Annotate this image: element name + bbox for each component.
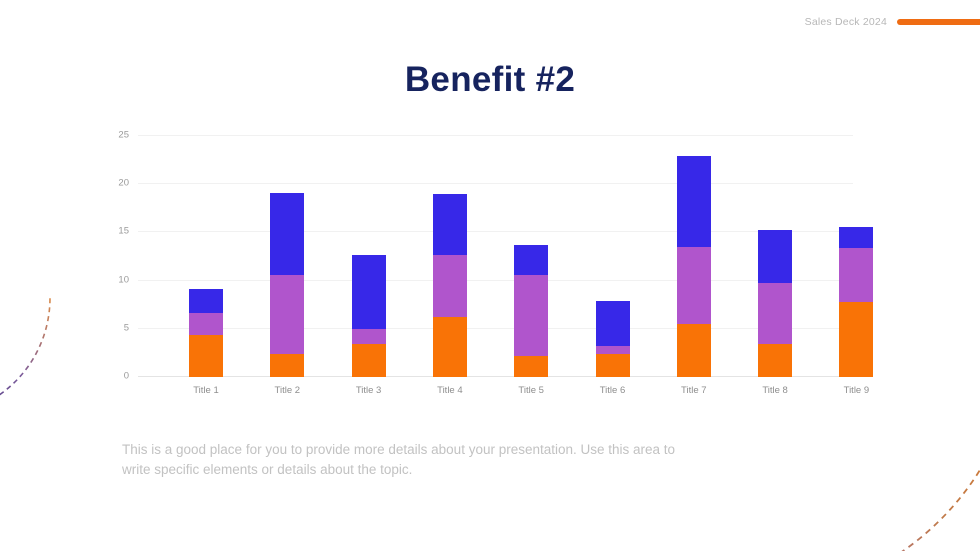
plot-area: 0510152025 Title 1Title 2Title 3Title 4T… xyxy=(138,136,853,377)
bar-segment-series-3[interactable] xyxy=(596,301,630,346)
y-axis-tick-10: 10 xyxy=(118,274,129,285)
bar-segment-series-2[interactable] xyxy=(758,283,792,345)
x-axis-tick-4: Title 4 xyxy=(437,385,463,396)
bar-segment-series-1[interactable] xyxy=(352,344,386,377)
bar-segment-series-2[interactable] xyxy=(352,329,386,344)
bar-segment-series-2[interactable] xyxy=(433,255,467,318)
bar-segment-series-2[interactable] xyxy=(839,248,873,302)
x-axis-tick-8: Title 8 xyxy=(762,385,788,396)
bar-segment-series-1[interactable] xyxy=(677,324,711,377)
bar-segment-series-1[interactable] xyxy=(758,344,792,377)
bar-segment-series-2[interactable] xyxy=(189,313,223,334)
page-title: Benefit #2 xyxy=(0,60,980,100)
x-axis-tick-9: Title 9 xyxy=(844,385,870,396)
bar-group[interactable]: Title 4 xyxy=(433,194,467,377)
bar-group[interactable]: Title 6 xyxy=(596,301,630,377)
bar-segment-series-2[interactable] xyxy=(514,275,548,356)
deck-label: Sales Deck 2024 xyxy=(805,16,887,28)
bar-group[interactable]: Title 5 xyxy=(514,245,548,377)
bar-group[interactable]: Title 9 xyxy=(839,227,873,377)
x-axis-tick-5: Title 5 xyxy=(518,385,544,396)
bar-segment-series-2[interactable] xyxy=(677,247,711,324)
bar-segment-series-3[interactable] xyxy=(677,156,711,247)
bar-group[interactable]: Title 8 xyxy=(758,230,792,377)
bar-segment-series-1[interactable] xyxy=(189,335,223,377)
stacked-bar-chart: 0510152025 Title 1Title 2Title 3Title 4T… xyxy=(108,128,853,393)
bar-segment-series-3[interactable] xyxy=(758,230,792,282)
bar-segment-series-1[interactable] xyxy=(839,302,873,377)
decorative-arc-left xyxy=(0,178,52,418)
bar-group[interactable]: Title 1 xyxy=(189,289,223,377)
bar-series-container: Title 1Title 2Title 3Title 4Title 5Title… xyxy=(138,136,853,377)
bar-segment-series-1[interactable] xyxy=(596,354,630,377)
bar-segment-series-3[interactable] xyxy=(352,255,386,329)
x-axis-tick-7: Title 7 xyxy=(681,385,707,396)
x-axis-tick-6: Title 6 xyxy=(600,385,626,396)
bar-segment-series-1[interactable] xyxy=(270,354,304,377)
x-axis-tick-2: Title 2 xyxy=(275,385,301,396)
bar-group[interactable]: Title 2 xyxy=(270,193,304,377)
bar-segment-series-3[interactable] xyxy=(514,245,548,275)
slide-header: Sales Deck 2024 xyxy=(805,16,980,28)
bar-segment-series-3[interactable] xyxy=(839,227,873,248)
x-axis-tick-3: Title 3 xyxy=(356,385,382,396)
y-axis-tick-0: 0 xyxy=(124,371,129,382)
slide: Sales Deck 2024 Benefit #2 0510152025 Ti… xyxy=(0,0,980,551)
body-paragraph: This is a good place for you to provide … xyxy=(122,440,697,480)
header-rule xyxy=(897,19,980,25)
bar-group[interactable]: Title 7 xyxy=(677,156,711,377)
y-axis-tick-25: 25 xyxy=(118,130,129,141)
x-axis-tick-1: Title 1 xyxy=(193,385,219,396)
bar-segment-series-3[interactable] xyxy=(433,194,467,255)
bar-segment-series-3[interactable] xyxy=(189,289,223,313)
bar-segment-series-3[interactable] xyxy=(270,193,304,275)
bar-segment-series-1[interactable] xyxy=(514,356,548,377)
y-axis-tick-15: 15 xyxy=(118,226,129,237)
y-axis-tick-20: 20 xyxy=(118,178,129,189)
bar-segment-series-1[interactable] xyxy=(433,317,467,377)
bar-segment-series-2[interactable] xyxy=(596,346,630,354)
y-axis-tick-5: 5 xyxy=(124,322,129,333)
bar-group[interactable]: Title 3 xyxy=(352,255,386,377)
bar-segment-series-2[interactable] xyxy=(270,275,304,354)
